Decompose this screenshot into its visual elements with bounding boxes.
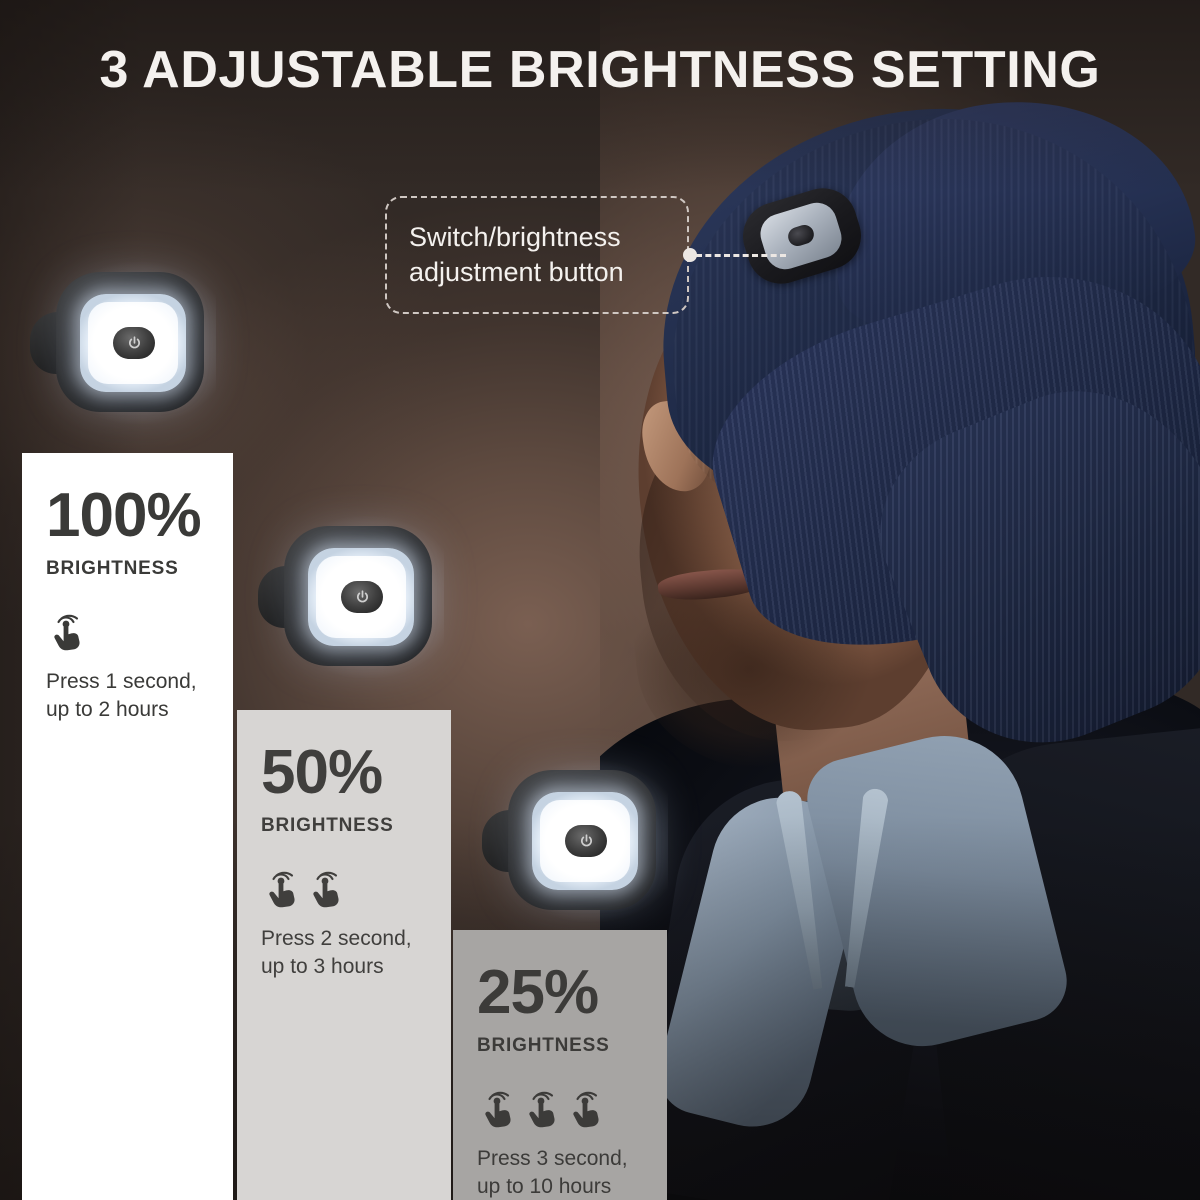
brightness-percent: 50%	[261, 744, 451, 803]
brightness-percent: 25%	[477, 964, 667, 1023]
infographic-canvas: 3 ADJUSTABLE BRIGHTNESS SETTING Switch/b…	[0, 0, 1200, 1200]
brightness-label: BRIGHTNESS	[46, 558, 233, 580]
callout-label: Switch/brightness adjustment button	[409, 220, 624, 290]
tap-gesture-icon	[477, 1085, 517, 1129]
tap-count-group	[46, 608, 233, 652]
brightness-panel-25: 25% BRIGHTNESS Press 3 second, up to 10 …	[453, 930, 667, 1200]
tap-gesture-icon	[305, 865, 345, 909]
power-symbol-icon[interactable]	[565, 825, 607, 857]
connector-dot-icon	[683, 248, 697, 262]
brightness-label: BRIGHTNESS	[477, 1035, 667, 1057]
power-symbol-icon[interactable]	[341, 581, 383, 613]
callout-box: Switch/brightness adjustment button	[385, 196, 689, 314]
brightness-description: Press 1 second, up to 2 hours	[46, 668, 233, 723]
tap-count-group	[261, 865, 451, 909]
power-glyph	[354, 589, 371, 606]
brightness-panel-100: 100% BRIGHTNESS Press 1 second, up to 2 …	[22, 453, 233, 1200]
tap-gesture-icon	[565, 1085, 605, 1129]
tap-count-group	[477, 1085, 667, 1129]
power-symbol-icon[interactable]	[113, 327, 155, 359]
brightness-description: Press 2 second, up to 3 hours	[261, 925, 451, 980]
brightness-description: Press 3 second, up to 10 hours	[477, 1145, 667, 1200]
brightness-label: BRIGHTNESS	[261, 815, 451, 837]
dashed-leader-line-icon	[696, 254, 786, 257]
power-glyph	[126, 335, 143, 352]
power-glyph	[578, 833, 595, 850]
tap-gesture-icon	[261, 865, 301, 909]
brightness-percent: 100%	[46, 487, 233, 546]
tap-gesture-icon	[521, 1085, 561, 1129]
page-title: 3 ADJUSTABLE BRIGHTNESS SETTING	[0, 40, 1200, 100]
brightness-panel-50: 50% BRIGHTNESS Press 2 second, up to 3 h…	[237, 710, 451, 1200]
tap-gesture-icon	[46, 608, 86, 652]
